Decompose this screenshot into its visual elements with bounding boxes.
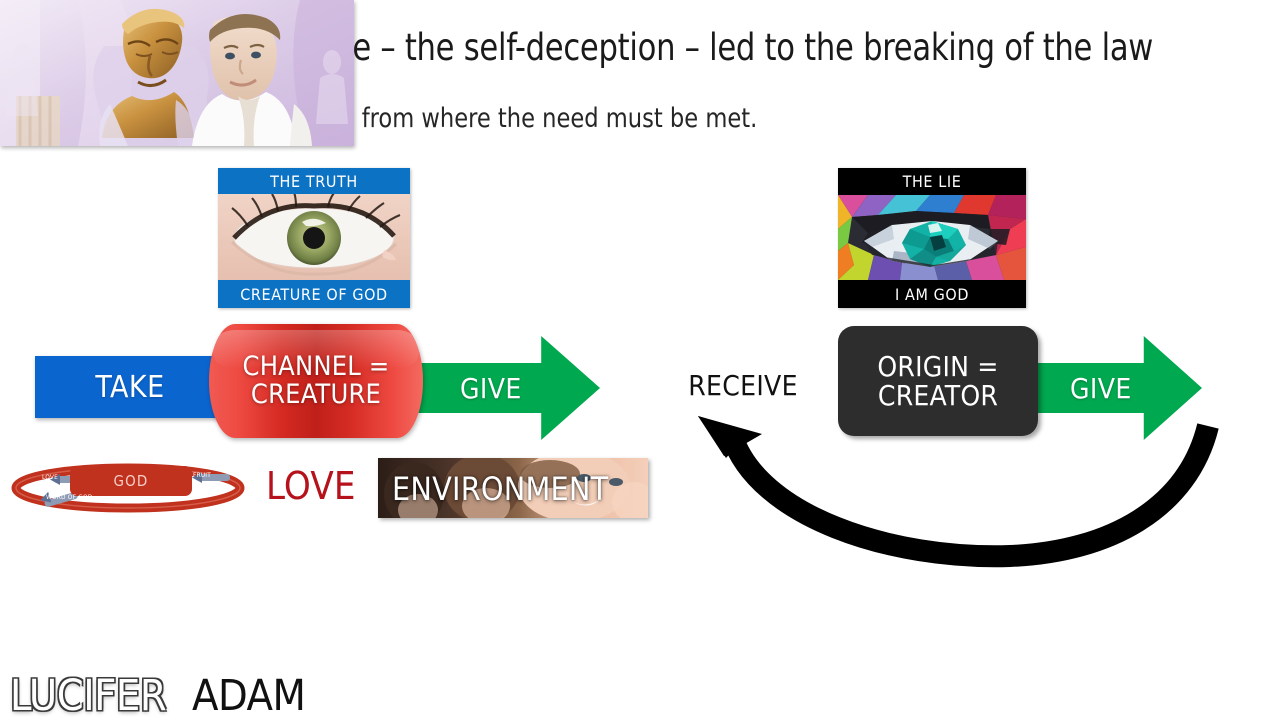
receive-feedback-curve	[680, 398, 1220, 568]
truth-card-bottom-label: CREATURE OF GOD	[218, 280, 410, 308]
channel-creature-cylinder: CHANNEL = CREATURE	[209, 324, 423, 438]
environment-photo-card: ENVIRONMENT	[378, 458, 648, 518]
god-label: GOD	[113, 472, 148, 490]
origin-line-1: ORIGIN =	[877, 352, 998, 381]
polygonal-teal-eye-artwork	[838, 195, 1026, 280]
god-center-box: GOD	[70, 466, 192, 496]
god-love-cycle-ring: GOD LOVE FRUIT WORD OF GOD	[8, 458, 248, 514]
give-arrow-left: GIVE	[404, 336, 600, 440]
ring-tag-love: LOVE	[42, 473, 58, 481]
green-eye-photo	[218, 194, 410, 280]
lie-card-top-label: THE LIE	[838, 168, 1026, 195]
channel-line-2: CREATURE	[251, 381, 381, 409]
lie-card-bottom-label: I AM GOD	[838, 280, 1026, 308]
ring-tag-word-of-god: WORD OF GOD	[46, 493, 92, 501]
ring-tag-fruit: FRUIT	[193, 471, 211, 479]
environment-label: ENVIRONMENT	[392, 470, 608, 508]
channel-line-1: CHANNEL =	[243, 353, 390, 381]
love-label: LOVE	[266, 464, 356, 508]
lie-eye-card: THE LIE	[838, 168, 1026, 308]
slide-canvas: This imaginary change – the self-decepti…	[0, 0, 1280, 720]
lucifer-and-adam-picture: LUCIFER ADAM	[0, 0, 354, 146]
truth-card-top-label: THE TRUTH	[218, 168, 410, 194]
take-label: TAKE	[95, 370, 164, 405]
give-label-left: GIVE	[460, 372, 522, 405]
take-bar: TAKE	[35, 356, 225, 418]
truth-eye-card: THE TRUTH	[218, 168, 410, 308]
